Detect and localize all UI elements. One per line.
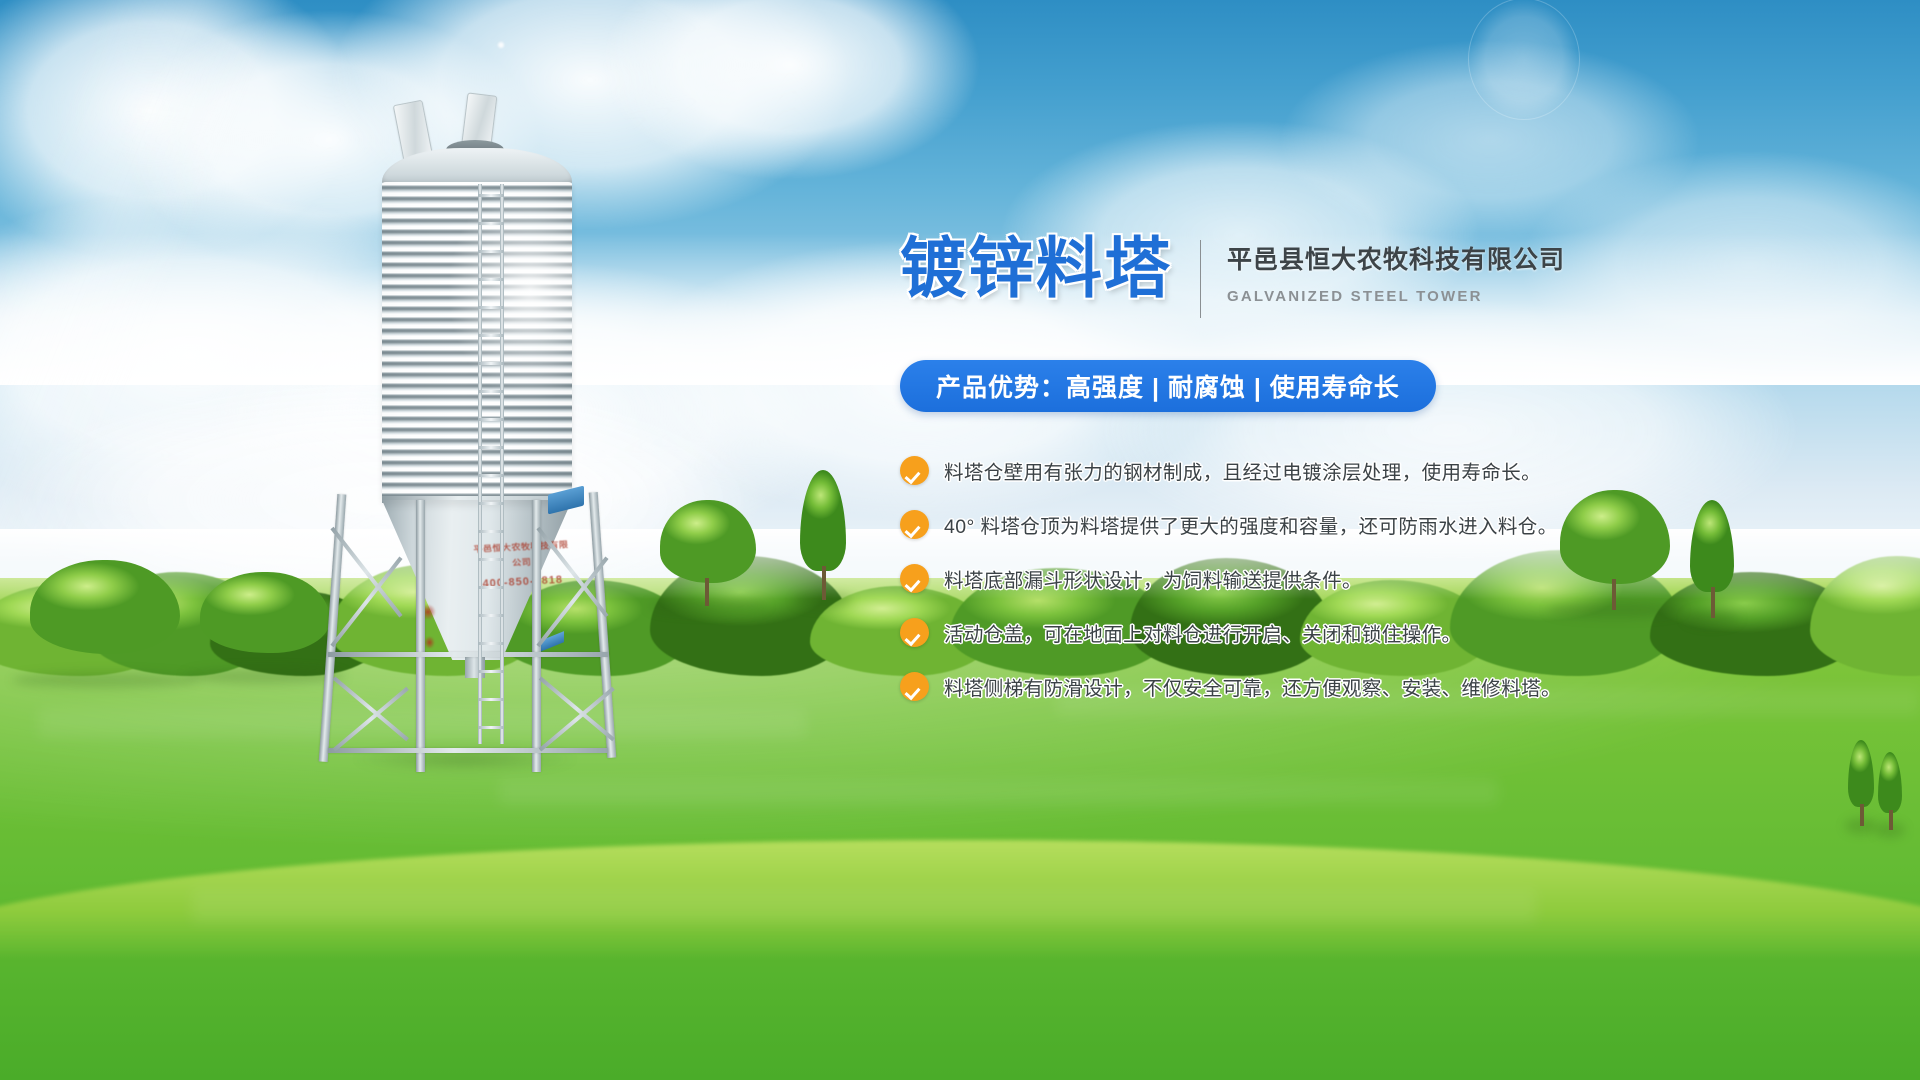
ladder-rung [478, 726, 504, 729]
advantage-badge: 产品优势：高强度 | 耐腐蚀 | 使用寿命长 [900, 360, 1436, 412]
list-item: 料塔底部漏斗形状设计，为饲料输送提供条件。 [900, 564, 1620, 593]
support-leg [532, 500, 541, 772]
tree-crown [1848, 740, 1874, 807]
ladder-rung [478, 418, 504, 421]
ladder-rung [478, 586, 504, 589]
company-block: 平邑县恒大农牧科技有限公司 GALVANIZED STEEL TOWER [1227, 236, 1565, 305]
ladder-rung [478, 222, 504, 225]
ladder-rung [478, 390, 504, 393]
feature-list: 料塔仓壁用有张力的钢材制成，且经过电镀涂层处理，使用寿命长。 40° 料塔仓顶为… [900, 456, 1620, 701]
tree-shadow [184, 668, 345, 684]
ladder-rail [500, 184, 504, 744]
tree-crown [800, 470, 846, 571]
ladder-rail [478, 184, 482, 744]
lawn-tree [660, 500, 756, 606]
page-title: 镀锌料塔 [900, 236, 1172, 302]
feature-text: 料塔底部漏斗形状设计，为饲料输送提供条件。 [944, 564, 1362, 593]
sun-glow-icon [1468, 0, 1580, 120]
lawn-tree [800, 470, 846, 600]
horizontal-girt [328, 652, 608, 657]
cross-brace [539, 687, 615, 752]
mow-stripe [192, 889, 1536, 923]
feature-text: 活动仓盖，可在地面上对料仓进行开启、关闭和锁住操作。 [944, 618, 1461, 647]
ladder-rung [478, 698, 504, 701]
feature-text: 料塔侧梯有防滑设计，不仅安全可靠，还方便观察、安装、维修料塔。 [944, 672, 1561, 701]
support-leg [416, 500, 425, 772]
ladder-rung [478, 362, 504, 365]
list-item: 料塔仓壁用有张力的钢材制成，且经过电镀涂层处理，使用寿命长。 [900, 456, 1620, 485]
tree-trunk [1860, 804, 1864, 826]
tree-crown [1690, 500, 1734, 592]
ladder-rung [478, 530, 504, 533]
check-circle-icon [900, 510, 929, 539]
list-item: 活动仓盖，可在地面上对料仓进行开启、关闭和锁住操作。 [900, 618, 1620, 647]
horizontal-girt [328, 748, 608, 753]
list-item: 料塔侧梯有防滑设计，不仅安全可靠，还方便观察、安装、维修料塔。 [900, 672, 1620, 701]
ladder-rung [478, 194, 504, 197]
galvanized-feed-tower: 平邑恒大农牧科技有限公司 400-850-8818 [380, 96, 650, 756]
check-circle-icon [900, 672, 929, 701]
cone-decal [424, 636, 435, 649]
ladder-rung [478, 474, 504, 477]
vertical-divider [1200, 240, 1201, 318]
check-circle-icon [900, 564, 929, 593]
lawn-tree [30, 560, 180, 680]
sky-speck [498, 42, 504, 48]
feature-text: 料塔仓壁用有张力的钢材制成，且经过电镀涂层处理，使用寿命长。 [944, 456, 1541, 485]
list-item: 40° 料塔仓顶为料塔提供了更大的强度和容量，还可防雨水进入料仓。 [900, 510, 1620, 539]
tree-crown [1878, 752, 1902, 813]
company-name: 平邑县恒大农牧科技有限公司 [1227, 240, 1565, 276]
tree-trunk [1889, 810, 1893, 830]
check-circle-icon [900, 456, 929, 485]
support-leg [589, 492, 617, 758]
ladder-rung [478, 334, 504, 337]
title-row: 镀锌料塔 平邑县恒大农牧科技有限公司 GALVANIZED STEEL TOWE… [900, 236, 1620, 318]
feature-text: 40° 料塔仓顶为料塔提供了更大的强度和容量，还可防雨水进入料仓。 [944, 510, 1558, 539]
banner-canvas: 平邑恒大农牧科技有限公司 400-850-8818 [0, 0, 1920, 1080]
tree-shadow [12, 672, 198, 688]
ladder-rung [478, 642, 504, 645]
ladder-rung [478, 614, 504, 617]
tree-crown [660, 500, 756, 583]
tree-crown [30, 560, 180, 654]
tree-trunk [705, 578, 709, 606]
side-ladder [476, 184, 506, 744]
ladder-rung [478, 278, 504, 281]
ladder-rung [478, 670, 504, 673]
lawn-tree [1878, 752, 1902, 830]
marketing-text-panel: 镀锌料塔 平邑县恒大农牧科技有限公司 GALVANIZED STEEL TOWE… [900, 236, 1620, 726]
tree-trunk [1711, 587, 1715, 618]
mow-stripe [499, 779, 1497, 805]
ladder-rung [478, 306, 504, 309]
tree-crown [200, 572, 330, 653]
check-circle-icon [900, 618, 929, 647]
english-subtitle: GALVANIZED STEEL TOWER [1227, 288, 1565, 305]
ladder-rung [478, 250, 504, 253]
lawn-tree [1848, 740, 1874, 826]
ladder-rung [478, 446, 504, 449]
ladder-rung [478, 558, 504, 561]
ladder-rung [478, 502, 504, 505]
lawn-tree [200, 572, 330, 676]
tree-trunk [822, 566, 826, 600]
lawn-tree [1690, 500, 1734, 618]
